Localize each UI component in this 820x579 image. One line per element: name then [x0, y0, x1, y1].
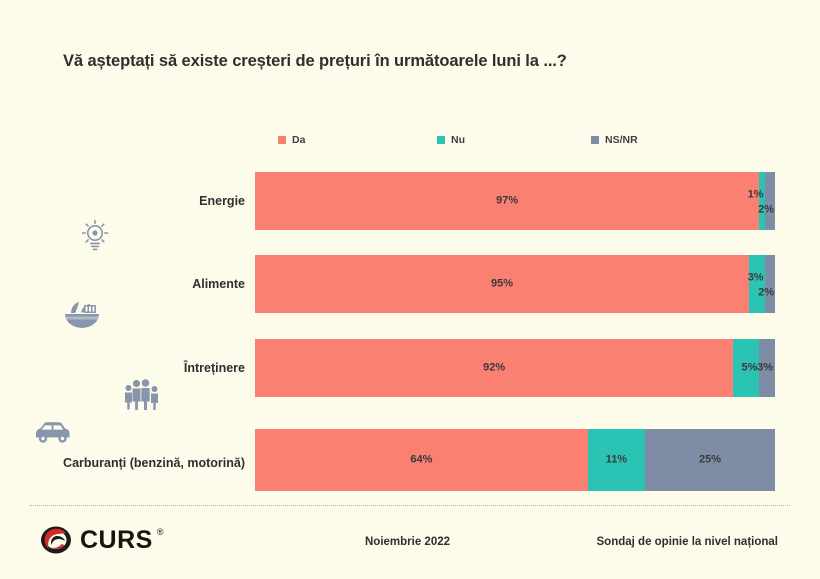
bar-segment-nsnr[interactable]: 2% [765, 172, 775, 230]
bar-row-alimente: Alimente 95% 3% 2% [0, 251, 820, 335]
curs-logo-registered: ® [157, 527, 164, 537]
row-label-alimente: Alimente [192, 277, 245, 291]
bar-value-nu: 5% [741, 363, 757, 374]
row-label-energie: Energie [199, 194, 245, 208]
curs-logo: CURS ® [40, 525, 163, 555]
stacked-bar-alimente: 95% 3% 2% [255, 255, 775, 313]
bar-segment-nu[interactable]: 5% [733, 339, 759, 397]
stacked-bar-carburanti: 64% 11% 25% [255, 429, 775, 491]
chart-page: Vă așteptați să existe creșteri de prețu… [0, 0, 820, 579]
bar-value-da: 95% [491, 279, 513, 290]
car-icon [32, 418, 74, 446]
bar-segment-nsnr[interactable]: 25% [645, 429, 775, 491]
bar-segment-nu[interactable]: 3% [749, 255, 765, 313]
bar-row-energie: Energie 97% 1% 2% [0, 168, 820, 252]
lightbulb-icon [78, 218, 112, 254]
bar-segment-nu[interactable]: 11% [588, 429, 645, 491]
bar-value-nu: 1% [748, 190, 764, 201]
stacked-bar-energie: 97% 1% 2% [255, 172, 775, 230]
row-label-intretinere: Întreținere [184, 361, 245, 375]
bar-value-da: 97% [496, 196, 518, 207]
footer-divider [30, 505, 790, 506]
family-icon [122, 377, 160, 411]
bar-segment-da[interactable]: 92% [255, 339, 733, 397]
row-label-carburanti: Carburanți (benzină, motorină) [63, 456, 245, 470]
curs-logo-text: CURS [80, 526, 153, 555]
bar-value-nsnr: 3% [757, 363, 773, 374]
footer-source: Sondaj de opinie la nivel național [597, 536, 778, 548]
bar-value-nu: 3% [748, 273, 764, 284]
bar-value-nsnr: 2% [758, 288, 774, 299]
footer: CURS ® Noiembrie 2022 Sondaj de opinie l… [0, 516, 820, 576]
bar-segment-nsnr[interactable]: 3% [759, 339, 775, 397]
bar-value-nu: 11% [606, 455, 627, 466]
food-bowl-icon [62, 296, 102, 332]
bar-value-da: 92% [483, 363, 505, 374]
bar-value-da: 64% [410, 455, 432, 466]
bar-segment-da[interactable]: 64% [255, 429, 588, 491]
bar-row-carburanti: Carburanți (benzină, motorină) 64% 11% 2… [0, 418, 820, 502]
bar-segment-da[interactable]: 97% [255, 172, 759, 230]
footer-date: Noiembrie 2022 [365, 536, 450, 548]
bar-value-nsnr: 25% [699, 455, 721, 466]
bar-value-nsnr: 2% [758, 205, 774, 216]
bar-segment-nsnr[interactable]: 2% [765, 255, 775, 313]
stacked-bar-intretinere: 92% 5% 3% [255, 339, 775, 397]
bar-segment-da[interactable]: 95% [255, 255, 749, 313]
curs-logo-mark-icon [40, 525, 74, 555]
plot-area: Energie 97% 1% 2% Alimente 95% [0, 0, 820, 500]
